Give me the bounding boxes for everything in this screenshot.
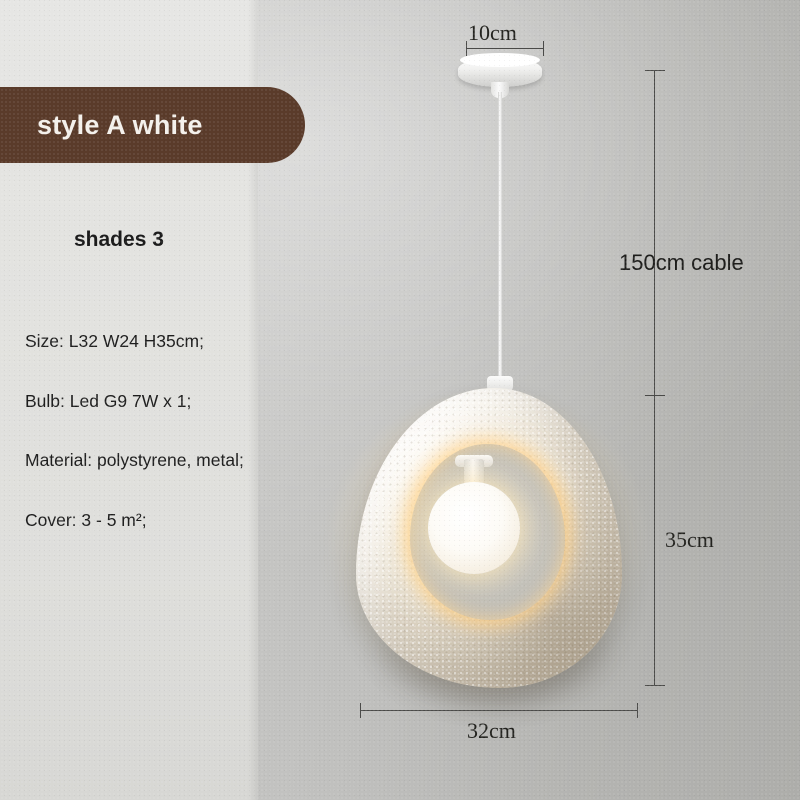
product-photo-scene: 10cm 150cm cable 35cm 32cm style A white… [0,0,800,800]
globe-bulb [428,482,520,574]
dimension-label-shade-height: 35cm [665,527,714,553]
dimension-tick-width-right [637,703,638,718]
dimension-line-shade-width [360,710,638,711]
dimension-tick-cable-bottom [645,395,665,396]
spec-bulb: Bulb: Led G9 7W x 1; [25,393,345,411]
pendant-cord [498,92,502,392]
style-badge-label: style A white [37,110,203,141]
dimension-tick-cable-top [645,70,665,71]
dimension-label-canopy-width: 10cm [468,20,517,46]
specification-list: Size: L32 W24 H35cm; Bulb: Led G9 7W x 1… [25,333,345,571]
style-badge: style A white [0,87,305,163]
dimension-tick-height-bottom [645,685,665,686]
dimension-line-canopy-width [466,48,544,49]
dimension-tick-canopy-left [466,41,467,56]
dimension-line-shade-height [654,395,655,686]
spec-size: Size: L32 W24 H35cm; [25,333,345,351]
dimension-tick-width-left [360,703,361,718]
spec-material: Material: polystyrene, metal; [25,452,345,470]
dimension-tick-canopy-right [543,41,544,56]
shades-title: shades 3 [74,228,164,252]
spec-cover: Cover: 3 - 5 m²; [25,512,345,530]
dimension-label-cable: 150cm cable [619,250,744,276]
dimension-label-shade-width: 32cm [467,718,516,744]
dimension-line-cable [654,70,655,396]
